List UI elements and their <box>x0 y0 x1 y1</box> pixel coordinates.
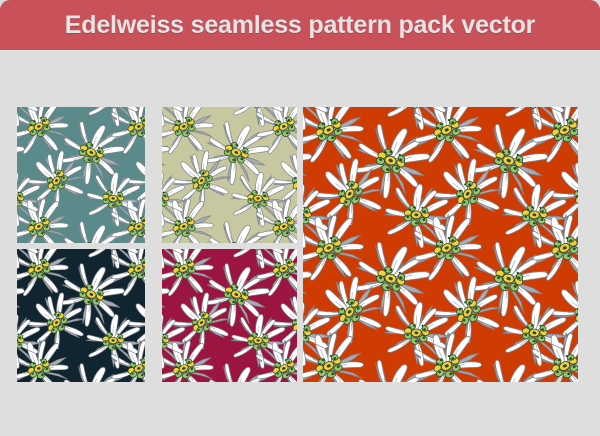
swatch-beige[interactable] <box>162 107 297 243</box>
swatch-teal[interactable] <box>17 107 145 243</box>
swatch-maroon[interactable] <box>162 249 297 382</box>
swatch-beige-pattern <box>162 107 297 243</box>
swatch-orange[interactable] <box>303 107 578 382</box>
swatch-orange-pattern <box>303 107 578 382</box>
title-banner: Edelweiss seamless pattern pack vector <box>0 0 600 50</box>
swatch-teal-pattern <box>17 107 145 243</box>
swatch-navy-pattern <box>17 249 145 382</box>
swatch-navy[interactable] <box>17 249 145 382</box>
vector-preview-canvas: Edelweiss seamless pattern pack vector <box>0 0 600 436</box>
page-title: Edelweiss seamless pattern pack vector <box>0 9 600 41</box>
swatch-maroon-pattern <box>162 249 297 382</box>
